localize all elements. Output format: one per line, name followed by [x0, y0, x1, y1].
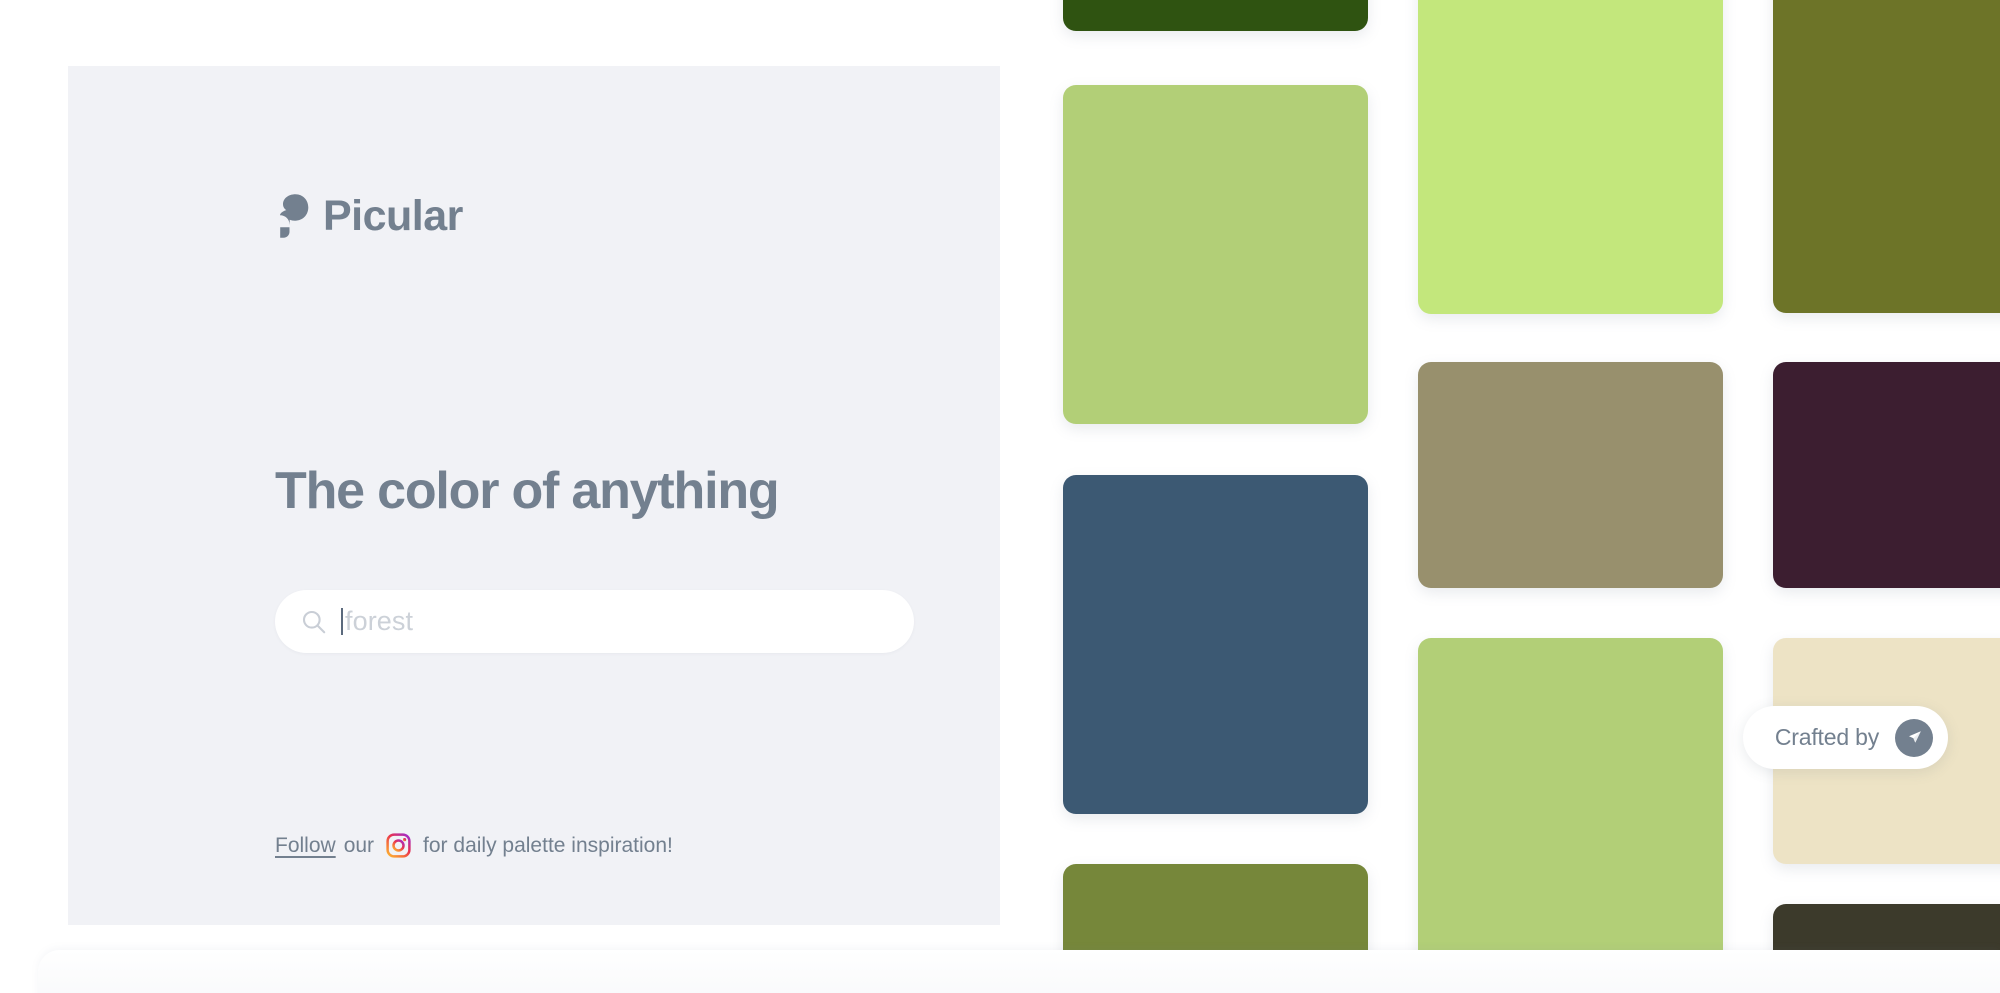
crafted-by-badge[interactable]: Crafted by	[1743, 706, 1948, 769]
instagram-icon[interactable]	[386, 833, 411, 858]
color-swatch[interactable]	[1063, 0, 1368, 31]
follow-our-label: our	[344, 834, 374, 858]
color-swatch[interactable]	[1773, 362, 2000, 588]
crafted-by-label: Crafted by	[1775, 724, 1879, 751]
brand-name: Picular	[323, 195, 463, 238]
palette-column-1	[1063, 0, 1368, 993]
paper-plane-icon	[1895, 719, 1933, 757]
search-input[interactable]: forest	[275, 590, 914, 653]
follow-link[interactable]: Follow	[275, 834, 336, 858]
palette-column-3	[1773, 0, 2000, 993]
search-placeholder: forest	[345, 608, 413, 635]
left-panel: Picular The color of anything forest Fol…	[68, 66, 1000, 925]
search-icon	[301, 609, 327, 635]
palette-column-2	[1418, 0, 1723, 993]
bottom-sheet-edge	[38, 950, 2000, 993]
follow-cta: Follow our	[275, 833, 673, 858]
color-swatch[interactable]	[1418, 638, 1723, 977]
color-swatch[interactable]	[1063, 475, 1368, 814]
color-swatch[interactable]	[1418, 362, 1723, 588]
text-caret	[341, 608, 343, 635]
color-swatch[interactable]	[1063, 85, 1368, 424]
panel-content: Picular The color of anything forest Fol…	[207, 66, 907, 925]
follow-tail-label: for daily palette inspiration!	[423, 834, 673, 858]
brand-logo[interactable]: Picular	[275, 193, 463, 239]
color-swatch[interactable]	[1418, 0, 1723, 314]
page-title: The color of anything	[275, 463, 778, 520]
palette-grid	[1063, 0, 2000, 993]
color-swatch[interactable]	[1773, 0, 2000, 313]
picular-drop-icon	[275, 193, 309, 239]
picular-app: Picular The color of anything forest Fol…	[0, 0, 2000, 993]
